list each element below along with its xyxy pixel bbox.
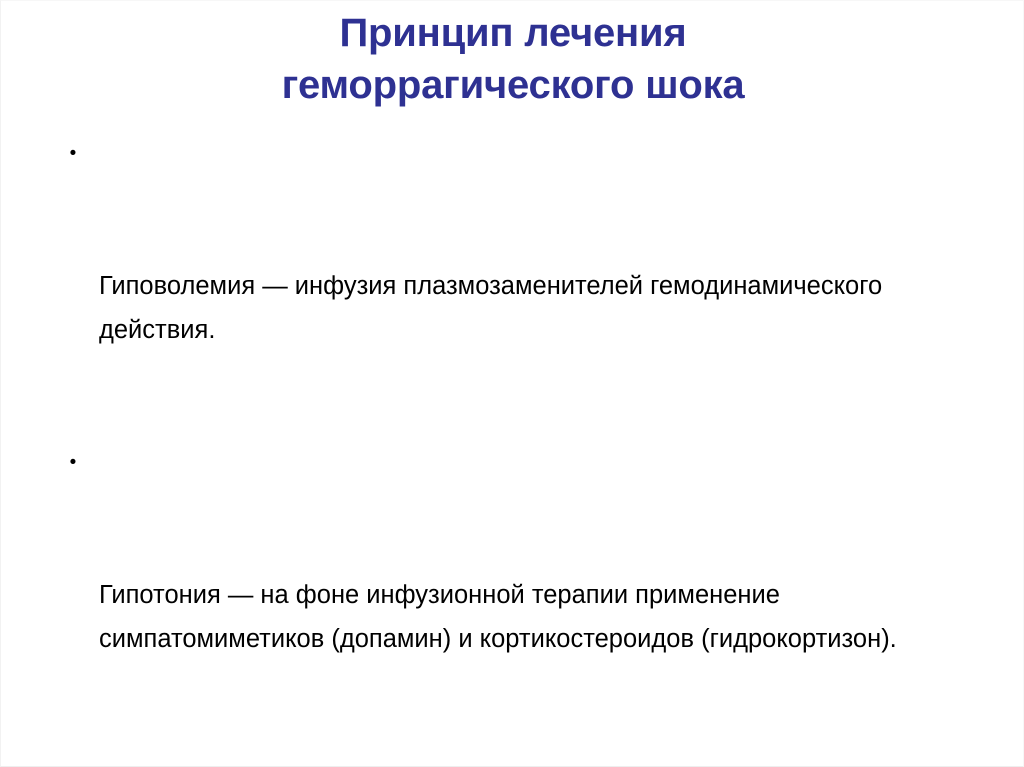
bullet-list: • Гиповолемия — инфузия плазмозаменителе… <box>53 132 953 767</box>
bullet-point-icon: • <box>63 750 83 767</box>
page-title-line-2: геморрагического шока <box>61 59 965 111</box>
bullet-point-icon: • <box>63 132 83 176</box>
page-title: Принцип лечения геморрагического шока <box>61 7 965 111</box>
list-item-text: Гипотония — на фоне инфузионной терапии … <box>99 573 953 661</box>
list-item: • Гиповолемия — инфузия плазмозаменителе… <box>53 132 953 440</box>
list-item: • Коагулопатия потребления (ДВС-синдром)… <box>53 750 953 767</box>
list-item: • Гипотония — на фоне инфузионной терапи… <box>53 441 953 749</box>
bullet-point-icon: • <box>63 441 83 485</box>
slide-canvas: Принцип лечения геморрагического шока • … <box>0 0 1024 767</box>
list-item-text: Гиповолемия — инфузия плазмозаменителей … <box>99 264 953 352</box>
page-title-line-1: Принцип лечения <box>61 7 965 59</box>
